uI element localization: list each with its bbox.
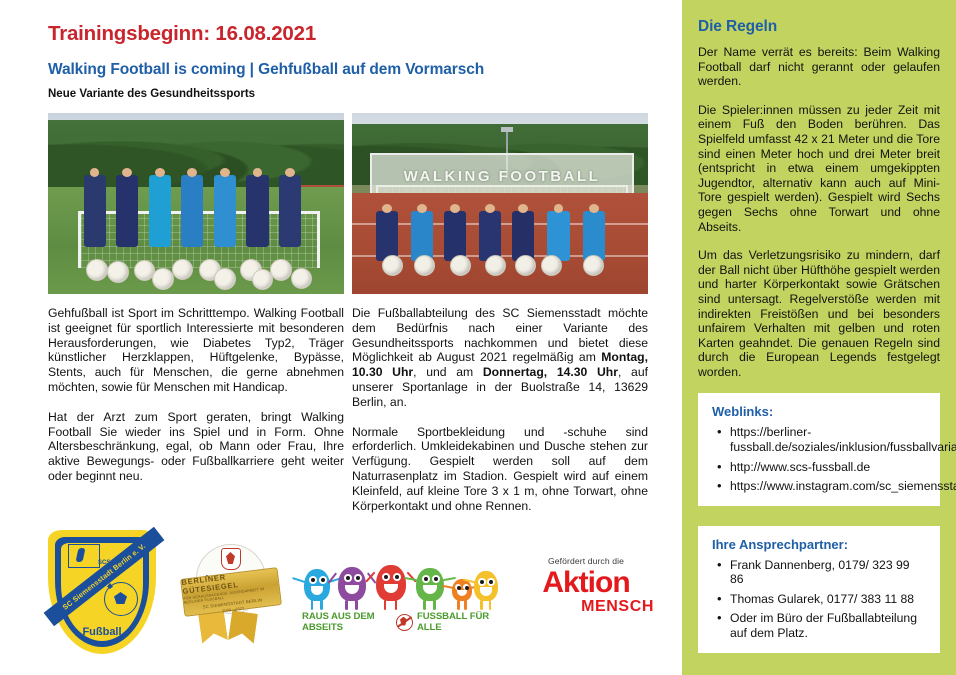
mascot-yellow bbox=[474, 571, 498, 601]
photo-team-standing bbox=[48, 113, 344, 294]
no-offside-icon bbox=[396, 614, 413, 631]
weblinks-heading: Weblinks: bbox=[712, 404, 926, 419]
main-content: Trainingsbeginn: 16.08.2021 Walking Foot… bbox=[0, 0, 682, 675]
football-icon bbox=[104, 582, 138, 616]
weblink-url: https://berliner-fussball.de/soziales/in… bbox=[730, 425, 956, 454]
sc-siemensstadt-logo: SCS SC Siemensstadt Berlin e. V. Fußball bbox=[48, 530, 156, 654]
weblink-item[interactable]: https://www.instagram.com/sc_siemensstad… bbox=[728, 479, 926, 494]
headline: Walking Football is coming | Gehfußball … bbox=[48, 61, 652, 79]
ribbon-right bbox=[228, 610, 258, 643]
football bbox=[485, 255, 506, 276]
player-figure bbox=[246, 175, 268, 247]
body-columns: Gehfußball ist Sport im Schritttempo. Wa… bbox=[48, 306, 652, 528]
player-figure bbox=[583, 211, 605, 262]
player-figure bbox=[512, 211, 534, 262]
rules-paragraph: Um das Verletzungsrisiko zu mindern, dar… bbox=[698, 248, 940, 379]
funding-note: Gefördert durch die bbox=[512, 556, 660, 566]
football bbox=[172, 259, 193, 280]
player-pictogram-icon bbox=[68, 544, 100, 568]
player-figure bbox=[214, 175, 236, 247]
rules-heading: Die Regeln bbox=[698, 18, 940, 36]
mensch-wordmark: MENSCH bbox=[512, 598, 660, 615]
mascot-red bbox=[376, 565, 406, 601]
player-figure bbox=[149, 175, 171, 247]
contact-detail: Thomas Gularek, 0177/ 383 11 88 bbox=[730, 592, 914, 606]
sidebar: Die Regeln Der Name verrät es bereits: B… bbox=[682, 0, 956, 675]
player-figure bbox=[84, 175, 106, 247]
mascot-purple bbox=[338, 567, 366, 601]
player-figure bbox=[479, 211, 501, 262]
football bbox=[214, 268, 236, 290]
subheadline: Neue Variante des Gesundheitssports bbox=[48, 88, 652, 100]
mascot-blue bbox=[304, 569, 330, 601]
player-figure bbox=[181, 175, 203, 247]
logo-strip: SCS SC Siemensstadt Berlin e. V. Fußball… bbox=[48, 527, 668, 657]
football bbox=[291, 268, 312, 289]
aktion-mensch-logo: Gefördert durch die Aktion MENSCH bbox=[512, 556, 660, 628]
contact-item: Oder im Büro der Fußballabteilung auf de… bbox=[728, 611, 926, 641]
football bbox=[152, 268, 174, 290]
contact-detail: Frank Dannenberg, 0179/ 323 99 86 bbox=[730, 558, 910, 587]
paragraph-schedule: Die Fußballabteilung des SC Siemensstadt… bbox=[352, 306, 648, 410]
aktion-wordmark: Aktion bbox=[512, 568, 660, 598]
weblinks-list: https://berliner-fussball.de/soziales/in… bbox=[712, 425, 926, 493]
contact-item: Frank Dannenberg, 0179/ 323 99 86 bbox=[728, 558, 926, 588]
rules-paragraph: Der Name verrät es bereits: Beim Walking… bbox=[698, 45, 940, 89]
paragraph: Normale Sportbekleidung und -schuhe sind… bbox=[352, 425, 648, 514]
mascot-row bbox=[302, 553, 494, 609]
contact-heading: Ihre Ansprechpartner: bbox=[712, 537, 926, 552]
football bbox=[583, 255, 604, 276]
football bbox=[450, 255, 471, 276]
weblink-url: http://www.scs-fussball.de bbox=[730, 460, 870, 474]
rules-paragraph: Die Spieler:innen müssen zu jeder Zeit m… bbox=[698, 103, 940, 234]
weblink-item[interactable]: http://www.scs-fussball.de bbox=[728, 460, 926, 475]
contact-detail: Oder im Büro der Fußballabteilung auf de… bbox=[730, 611, 917, 640]
football bbox=[382, 255, 403, 276]
mascot-orange bbox=[452, 579, 472, 601]
club-section: Fußball bbox=[48, 626, 156, 638]
berliner-guetesiegel-logo: BERLINER GÜTESIEGEL FÜR HERAUSRAGENDE JU… bbox=[178, 540, 282, 644]
ribbon-left bbox=[198, 610, 228, 643]
contact-item: Thomas Gularek, 0177/ 383 11 88 bbox=[728, 592, 926, 607]
player-figure bbox=[279, 175, 301, 247]
abseits-text-left: RAUS AUS DEM ABSEITS bbox=[302, 611, 392, 633]
player-figure bbox=[376, 211, 398, 262]
photo-team-banner: WALKING FOOTBALL bbox=[352, 113, 648, 294]
paragraph: Hat der Arzt zum Sport geraten, bringt W… bbox=[48, 410, 344, 484]
player-figure bbox=[444, 211, 466, 262]
paragraph: Gehfußball ist Sport im Schritttempo. Wa… bbox=[48, 306, 344, 395]
weblink-url: https://www.instagram.com/sc_siemensstad… bbox=[730, 479, 956, 493]
bfv-crest-icon bbox=[221, 548, 241, 570]
football bbox=[414, 255, 435, 276]
contact-list: Frank Dannenberg, 0179/ 323 99 86 Thomas… bbox=[712, 558, 926, 641]
flyer-page: Trainingsbeginn: 16.08.2021 Walking Foot… bbox=[0, 0, 956, 675]
photo-strip: WALKING FOOTBALL bbox=[48, 113, 652, 294]
weblink-item[interactable]: https://berliner-fussball.de/soziales/in… bbox=[728, 425, 926, 455]
player-figure bbox=[116, 175, 138, 247]
mascot-green bbox=[416, 568, 444, 601]
body-column-right: Die Fußballabteilung des SC Siemensstadt… bbox=[352, 306, 648, 528]
football bbox=[515, 255, 536, 276]
contact-card: Ihre Ansprechpartner: Frank Dannenberg, … bbox=[698, 526, 940, 653]
schedule-thursday: Donnertag, 14.30 Uhr bbox=[483, 365, 618, 379]
body-column-left: Gehfußball ist Sport im Schritttempo. Wa… bbox=[48, 306, 344, 528]
text-mid: , und am bbox=[413, 365, 483, 379]
player-figure bbox=[411, 211, 433, 262]
banner-text: WALKING FOOTBALL bbox=[404, 168, 601, 185]
raus-aus-dem-abseits-logo: RAUS AUS DEM ABSEITS FUSSBALL FÜR ALLE bbox=[302, 553, 494, 631]
weblinks-card: Weblinks: https://berliner-fussball.de/s… bbox=[698, 393, 940, 505]
player-figure bbox=[547, 211, 569, 262]
abseits-text-right: FUSSBALL FÜR ALLE bbox=[417, 611, 494, 633]
abseits-caption: RAUS AUS DEM ABSEITS FUSSBALL FÜR ALLE bbox=[302, 613, 494, 631]
page-title: Trainingsbeginn: 16.08.2021 bbox=[48, 22, 652, 46]
